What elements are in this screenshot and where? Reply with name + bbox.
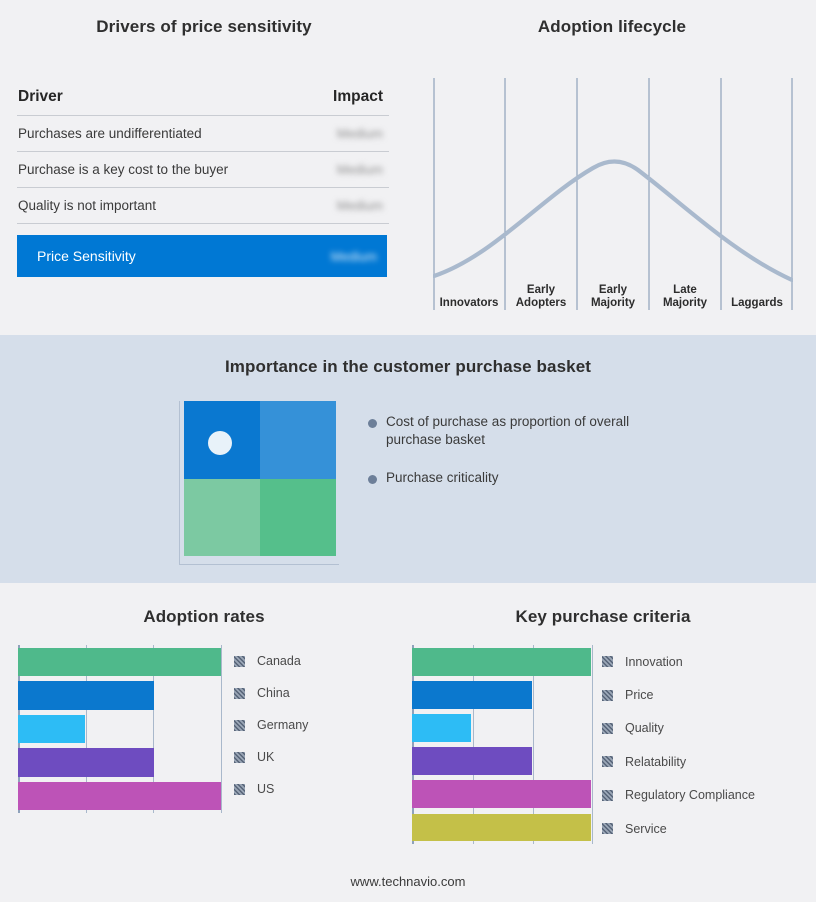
legend-label: Innovation bbox=[625, 655, 683, 669]
summary-label: Price Sensitivity bbox=[37, 248, 136, 264]
quadrant-matrix-axes bbox=[179, 401, 339, 565]
key-purchase-criteria-title: Key purchase criteria bbox=[390, 607, 816, 627]
purchase-basket-panel: Importance in the customer purchase bask… bbox=[0, 335, 816, 583]
column-header-driver: Driver bbox=[18, 88, 63, 106]
legend-label: Price bbox=[625, 688, 653, 702]
bar-series bbox=[18, 645, 221, 813]
bar-slot bbox=[18, 645, 221, 679]
hatched-square-icon bbox=[602, 690, 613, 701]
bar bbox=[412, 681, 532, 709]
position-dot-marker bbox=[208, 431, 232, 455]
legend-label: US bbox=[257, 782, 274, 796]
adoption-rates-chart bbox=[18, 645, 221, 813]
bar bbox=[18, 648, 221, 676]
legend-label: Quality bbox=[625, 721, 664, 735]
stage-label-early-adopters: EarlyAdopters bbox=[505, 272, 577, 312]
bullet-icon bbox=[368, 419, 377, 428]
bar-slot bbox=[412, 745, 591, 778]
bar-slot bbox=[412, 678, 591, 711]
legend-label: Canada bbox=[257, 654, 301, 668]
gridline bbox=[221, 645, 222, 813]
table-row: Purchase is a key cost to the buyer Medi… bbox=[17, 152, 389, 188]
bullet-icon bbox=[368, 475, 377, 484]
bar bbox=[18, 681, 154, 709]
impact-value-redacted: Medium bbox=[337, 162, 383, 177]
basket-panel-title: Importance in the customer purchase bask… bbox=[0, 357, 816, 377]
hatched-square-icon bbox=[602, 756, 613, 767]
legend-item: Price bbox=[602, 678, 755, 711]
legend-label: Cost of purchase as proportion of overal… bbox=[386, 413, 644, 449]
key-purchase-criteria-panel: Key purchase criteria InnovationPriceQua… bbox=[390, 583, 816, 883]
bar-slot bbox=[412, 811, 591, 844]
key-purchase-criteria-chart bbox=[412, 645, 591, 844]
legend-label: Regulatory Compliance bbox=[625, 788, 755, 802]
adoption-rates-panel: Adoption rates CanadaChinaGermanyUKUS bbox=[0, 583, 408, 883]
bar-slot bbox=[412, 778, 591, 811]
legend-item: Service bbox=[602, 812, 755, 845]
legend-item: Cost of purchase as proportion of overal… bbox=[368, 413, 668, 449]
legend-item: Purchase criticality bbox=[368, 469, 668, 487]
hatched-square-icon bbox=[234, 784, 245, 795]
bar bbox=[18, 715, 85, 743]
hatched-square-icon bbox=[234, 656, 245, 667]
legend-label: UK bbox=[257, 750, 274, 764]
footer-url: www.technavio.com bbox=[0, 874, 816, 889]
driver-label: Quality is not important bbox=[18, 198, 156, 213]
legend-label: Germany bbox=[257, 718, 308, 732]
legend-label: Purchase criticality bbox=[386, 469, 499, 487]
hatched-square-icon bbox=[234, 720, 245, 731]
legend-item: Canada bbox=[234, 645, 308, 677]
table-header-row: Driver Impact bbox=[17, 88, 389, 116]
quadrant-matrix bbox=[184, 401, 336, 556]
hatched-square-icon bbox=[234, 752, 245, 763]
adoption-bell-curve bbox=[434, 161, 792, 280]
legend-item: US bbox=[234, 773, 308, 805]
legend-item: Relatability bbox=[602, 745, 755, 778]
legend-item: China bbox=[234, 677, 308, 709]
bar-slot bbox=[18, 779, 221, 813]
bar-slot bbox=[412, 645, 591, 678]
legend-item: Germany bbox=[234, 709, 308, 741]
quadrant-bottom-left bbox=[184, 479, 260, 557]
drivers-table: Driver Impact Purchases are undifferenti… bbox=[17, 88, 389, 277]
stage-label-innovators: Innovators bbox=[433, 272, 505, 312]
drivers-panel: Drivers of price sensitivity Driver Impa… bbox=[0, 0, 408, 335]
price-sensitivity-summary-row: Price Sensitivity Medium bbox=[17, 235, 387, 277]
stage-label-late-majority: LateMajority bbox=[649, 272, 721, 312]
impact-value-redacted: Medium bbox=[337, 126, 383, 141]
impact-value-redacted: Medium bbox=[337, 198, 383, 213]
legend-item: Innovation bbox=[602, 645, 755, 678]
gridline bbox=[592, 645, 593, 844]
legend-item: UK bbox=[234, 741, 308, 773]
bar bbox=[412, 814, 591, 842]
bar bbox=[18, 782, 221, 810]
lifecycle-stage-labels: Innovators EarlyAdopters EarlyMajority L… bbox=[433, 272, 793, 312]
legend-label: Relatability bbox=[625, 755, 686, 769]
stage-label-early-majority: EarlyMajority bbox=[577, 272, 649, 312]
driver-label: Purchases are undifferentiated bbox=[18, 126, 202, 141]
legend-label: China bbox=[257, 686, 290, 700]
bar bbox=[18, 748, 154, 776]
legend-item: Regulatory Compliance bbox=[602, 779, 755, 812]
legend-label: Service bbox=[625, 822, 667, 836]
quadrant-bottom-right bbox=[260, 479, 336, 557]
table-row: Quality is not important Medium bbox=[17, 188, 389, 224]
bar-slot bbox=[18, 746, 221, 780]
bar bbox=[412, 714, 471, 742]
driver-label: Purchase is a key cost to the buyer bbox=[18, 162, 228, 177]
adoption-rates-legend: CanadaChinaGermanyUKUS bbox=[234, 645, 308, 805]
hatched-square-icon bbox=[602, 723, 613, 734]
hatched-square-icon bbox=[234, 688, 245, 699]
bar-slot bbox=[412, 711, 591, 744]
summary-impact-redacted: Medium bbox=[331, 249, 377, 264]
adoption-rates-title: Adoption rates bbox=[0, 607, 408, 627]
stage-label-laggards: Laggards bbox=[721, 272, 793, 312]
table-row: Purchases are undifferentiated Medium bbox=[17, 116, 389, 152]
bar-slot bbox=[18, 679, 221, 713]
hatched-square-icon bbox=[602, 790, 613, 801]
legend-item: Quality bbox=[602, 712, 755, 745]
basket-legend: Cost of purchase as proportion of overal… bbox=[368, 413, 668, 506]
lifecycle-panel: Adoption lifecycle Innovators EarlyAdopt… bbox=[408, 0, 816, 335]
bar-slot bbox=[18, 712, 221, 746]
hatched-square-icon bbox=[602, 656, 613, 667]
bar bbox=[412, 648, 591, 676]
bar-series bbox=[412, 645, 591, 844]
key-purchase-criteria-legend: InnovationPriceQualityRelatabilityRegula… bbox=[602, 645, 755, 845]
bar bbox=[412, 747, 532, 775]
hatched-square-icon bbox=[602, 823, 613, 834]
quadrant-top-right bbox=[260, 401, 336, 479]
drivers-panel-title: Drivers of price sensitivity bbox=[0, 17, 408, 37]
column-header-impact: Impact bbox=[333, 88, 383, 106]
bar bbox=[412, 780, 591, 808]
lifecycle-panel-title: Adoption lifecycle bbox=[408, 17, 816, 37]
